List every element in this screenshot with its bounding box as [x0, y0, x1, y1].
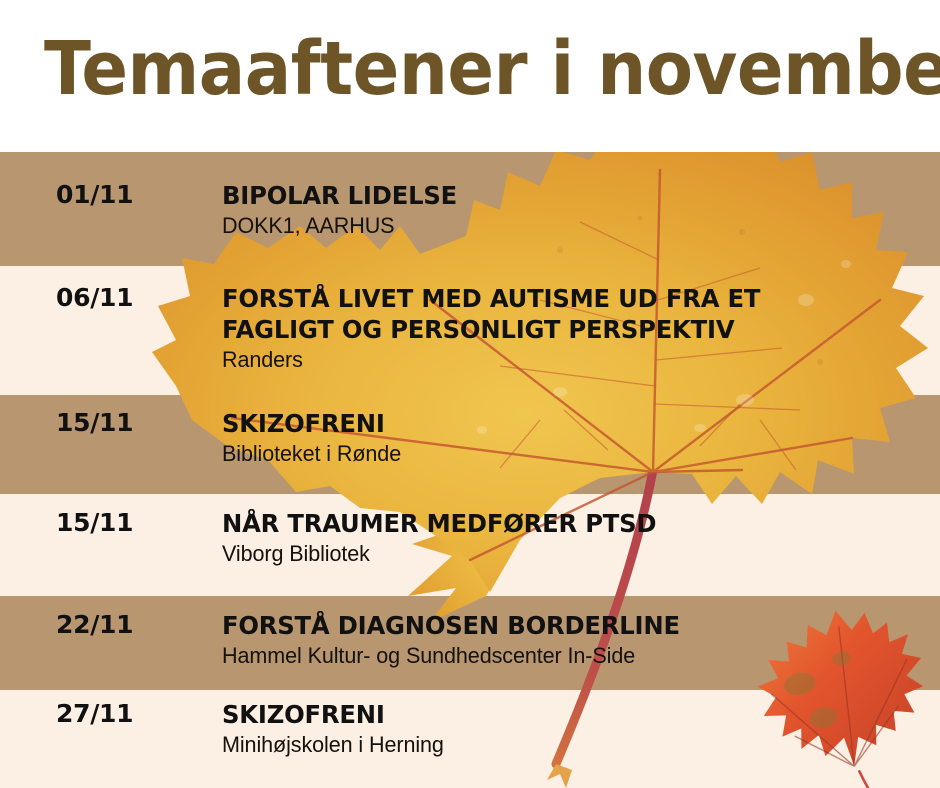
event-info: BIPOLAR LIDELSEDOKK1, AARHUS — [222, 180, 930, 240]
event-title-line1: SKIZOFRENI — [222, 700, 385, 729]
event-date: 15/11 — [56, 508, 196, 538]
event-title: BIPOLAR LIDELSE — [222, 180, 909, 211]
event-title-line2: FAGLIGT OG PERSONLIGT PERSPEKTIV — [222, 314, 909, 345]
event-info: FORSTÅ LIVET MED AUTISME UD FRA ETFAGLIG… — [222, 283, 930, 374]
event-info: FORSTÅ DIAGNOSEN BORDERLINEHammel Kultur… — [222, 610, 930, 670]
event-title-line1: NÅR TRAUMER MEDFØRER PTSD — [222, 509, 656, 538]
event-date: 22/11 — [56, 610, 196, 640]
event-info: SKIZOFRENIBiblioteket i Rønde — [222, 408, 930, 468]
event-date: 27/11 — [56, 699, 196, 729]
event-title: NÅR TRAUMER MEDFØRER PTSD — [222, 508, 909, 539]
event-title-line1: SKIZOFRENI — [222, 409, 385, 438]
page-title: Temaaftener i november — [44, 26, 940, 112]
event-title: SKIZOFRENI — [222, 699, 909, 730]
event-info: NÅR TRAUMER MEDFØRER PTSDViborg Bibliote… — [222, 508, 930, 568]
event-title: FORSTÅ LIVET MED AUTISME UD FRA ETFAGLIG… — [222, 283, 909, 345]
event-date: 01/11 — [56, 180, 196, 210]
event-date: 15/11 — [56, 408, 196, 438]
poster-header: Temaaftener i november — [0, 0, 940, 152]
event-title-line1: BIPOLAR LIDELSE — [222, 181, 457, 210]
poster-canvas: Temaaftener i november 01/11BIPOLAR LIDE… — [0, 0, 940, 788]
event-venue: Viborg Bibliotek — [222, 540, 916, 568]
event-title: FORSTÅ DIAGNOSEN BORDERLINE — [222, 610, 909, 641]
event-info: SKIZOFRENIMinihøjskolen i Herning — [222, 699, 930, 759]
event-title-line1: FORSTÅ DIAGNOSEN BORDERLINE — [222, 611, 680, 640]
event-venue: Minihøjskolen i Herning — [222, 731, 916, 759]
event-venue: Hammel Kultur- og Sundhedscenter In-Side — [222, 642, 916, 670]
event-venue: DOKK1, AARHUS — [222, 212, 916, 240]
event-date: 06/11 — [56, 283, 196, 313]
event-venue: Randers — [222, 346, 916, 374]
event-venue: Biblioteket i Rønde — [222, 440, 916, 468]
event-title-line1: FORSTÅ LIVET MED AUTISME UD FRA ET — [222, 284, 760, 313]
event-title: SKIZOFRENI — [222, 408, 909, 439]
